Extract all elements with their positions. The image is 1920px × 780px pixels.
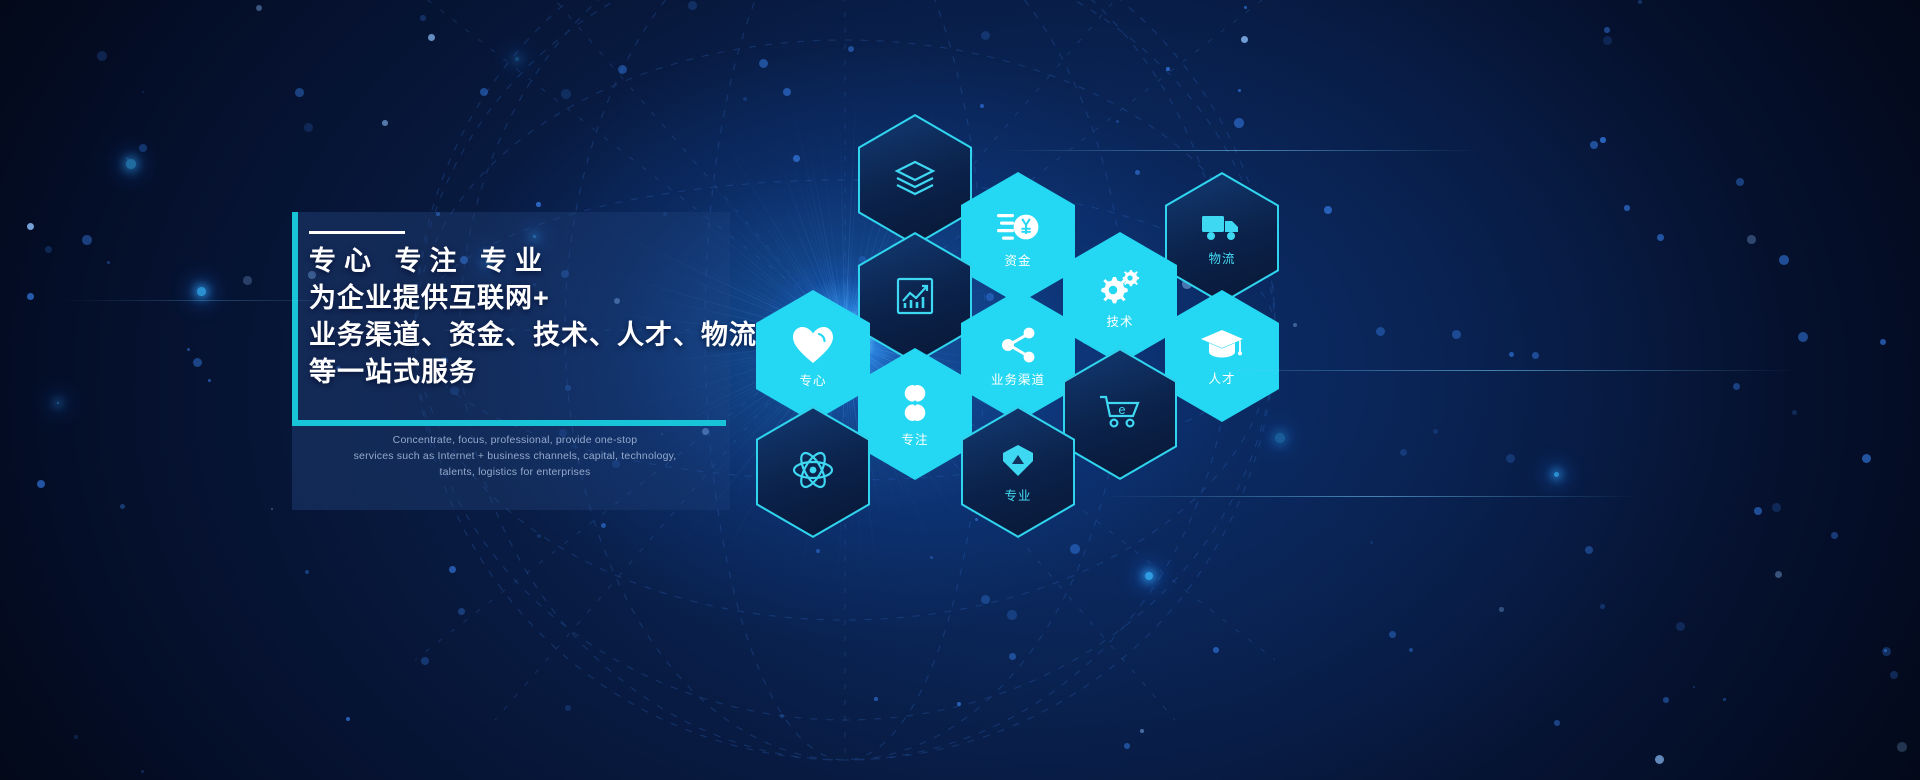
hexagon-capital[interactable]: 资金	[961, 172, 1075, 304]
headline-line-1: 专心 专注 专业	[309, 243, 779, 280]
shopping-cart-e-icon: e	[1097, 393, 1143, 436]
hexagon-chart[interactable]	[858, 232, 972, 364]
gears-icon	[1099, 268, 1141, 311]
light-streak	[1000, 150, 1480, 151]
hexagon-business-channels[interactable]: 业务渠道	[961, 290, 1075, 422]
subtitle-line-1: Concentrate, focus, professional, provid…	[315, 432, 715, 448]
hexagon-professional[interactable]: 专业	[961, 406, 1075, 538]
hexagon-capital-label: 资金	[1004, 255, 1031, 268]
diamond-icon	[999, 442, 1037, 485]
bar-chart-trend-icon	[894, 275, 936, 322]
hexagon-professional-label: 专业	[1004, 490, 1031, 503]
subtitle-line-3: talents, logistics for enterprises	[315, 464, 715, 480]
hexagon-atom[interactable]	[756, 406, 870, 538]
headline-block: 专心 专注 专业 为企业提供互联网+ 业务渠道、资金、技术、人才、物流 等一站式…	[309, 243, 779, 391]
heart-icon	[791, 325, 835, 370]
hexagon-focus-heart[interactable]: 专心	[756, 290, 870, 422]
panel-left-accent-bar	[292, 212, 298, 426]
hexagon-dedication[interactable]: 专注	[858, 348, 972, 480]
light-streak	[1100, 496, 1640, 497]
hexagon-cluster: 资金 物流	[740, 110, 1300, 530]
subtitle-block: Concentrate, focus, professional, provid…	[315, 432, 715, 480]
headline-rule	[309, 231, 405, 234]
hexagon-ecommerce[interactable]: e	[1063, 348, 1177, 480]
layers-icon	[893, 158, 937, 203]
panel-bottom-accent-bar	[292, 420, 726, 426]
light-streak	[1180, 370, 1800, 371]
headline-line-3: 业务渠道、资金、技术、人才、物流	[309, 317, 779, 354]
yen-coin-icon	[996, 209, 1040, 250]
hexagon-focus-heart-label: 专心	[799, 375, 826, 388]
hexagon-technology[interactable]: 技术	[1063, 232, 1177, 364]
hexagon-technology-label: 技术	[1106, 316, 1133, 329]
atom-icon	[791, 450, 835, 495]
hexagon-dedication-label: 专注	[901, 434, 928, 447]
clover-icon	[894, 382, 936, 429]
hexagon-logistics[interactable]: 物流	[1165, 172, 1279, 304]
hexagon-business-channels-label: 业务渠道	[991, 374, 1045, 387]
headline-line-2: 为企业提供互联网+	[309, 280, 779, 317]
truck-icon	[1200, 211, 1244, 248]
hexagon-layers[interactable]	[858, 114, 972, 246]
graduation-cap-icon	[1200, 327, 1244, 368]
headline-line-4: 等一站式服务	[309, 354, 779, 391]
light-streak	[60, 300, 360, 301]
subtitle-line-2: services such as Internet + business cha…	[315, 448, 715, 464]
share-nodes-icon	[997, 326, 1039, 369]
svg-text:e: e	[1118, 402, 1125, 417]
hexagon-talent[interactable]: 人才	[1165, 290, 1279, 422]
hexagon-talent-label: 人才	[1208, 373, 1235, 386]
hexagon-logistics-label: 物流	[1208, 253, 1235, 266]
hero-banner: 专心 专注 专业 为企业提供互联网+ 业务渠道、资金、技术、人才、物流 等一站式…	[0, 0, 1920, 780]
